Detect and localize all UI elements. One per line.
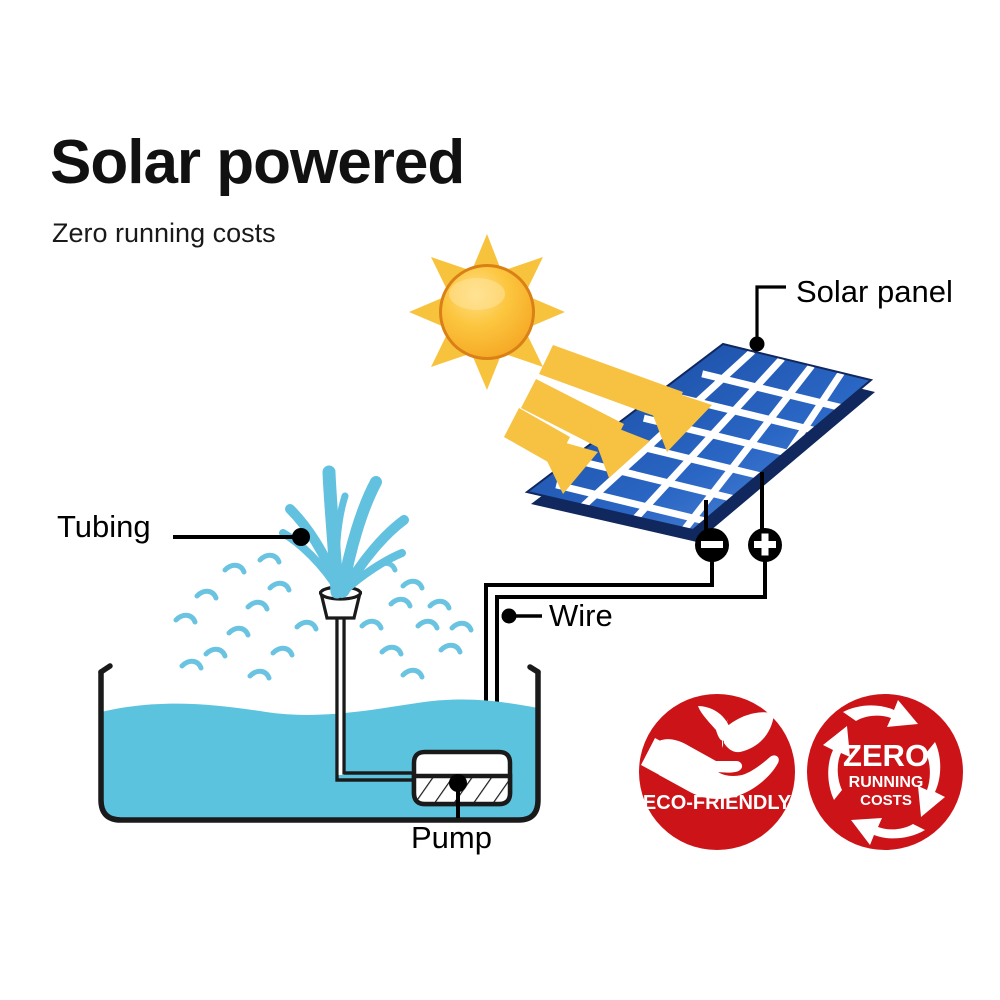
terminal-negative[interactable] (695, 528, 729, 562)
leader-dot-pump (449, 774, 467, 792)
leader-wire (502, 609, 543, 624)
badge-zero-line2: RUNNING (849, 774, 924, 791)
sun-highlight (449, 278, 505, 310)
leader-tubing (173, 528, 310, 546)
badge-zero-line3: COSTS (860, 792, 912, 809)
leader-solar-panel (750, 287, 787, 352)
leader-dot-wire (502, 609, 517, 624)
leader-dot-solar-panel (750, 337, 765, 352)
diagram-canvas: ECO-FRIENDLY ZERO RUNNING COSTS (0, 0, 1000, 1000)
solar-panel-cells (449, 330, 871, 611)
solar-panel-icon[interactable] (449, 330, 875, 611)
sun-icon (409, 234, 565, 390)
terminal-positive[interactable] (748, 528, 782, 562)
badge-eco-friendly[interactable]: ECO-FRIENDLY (639, 694, 795, 850)
badge-eco-label: ECO-FRIENDLY (643, 792, 792, 814)
leader-dot-tubing (292, 528, 310, 546)
solar-fountain-diagram: Solar powered Zero running costs Solar p… (0, 0, 1000, 1000)
badge-zero-line1: ZERO (843, 738, 929, 773)
badge-zero-running-costs[interactable]: ZERO RUNNING COSTS (807, 694, 963, 850)
